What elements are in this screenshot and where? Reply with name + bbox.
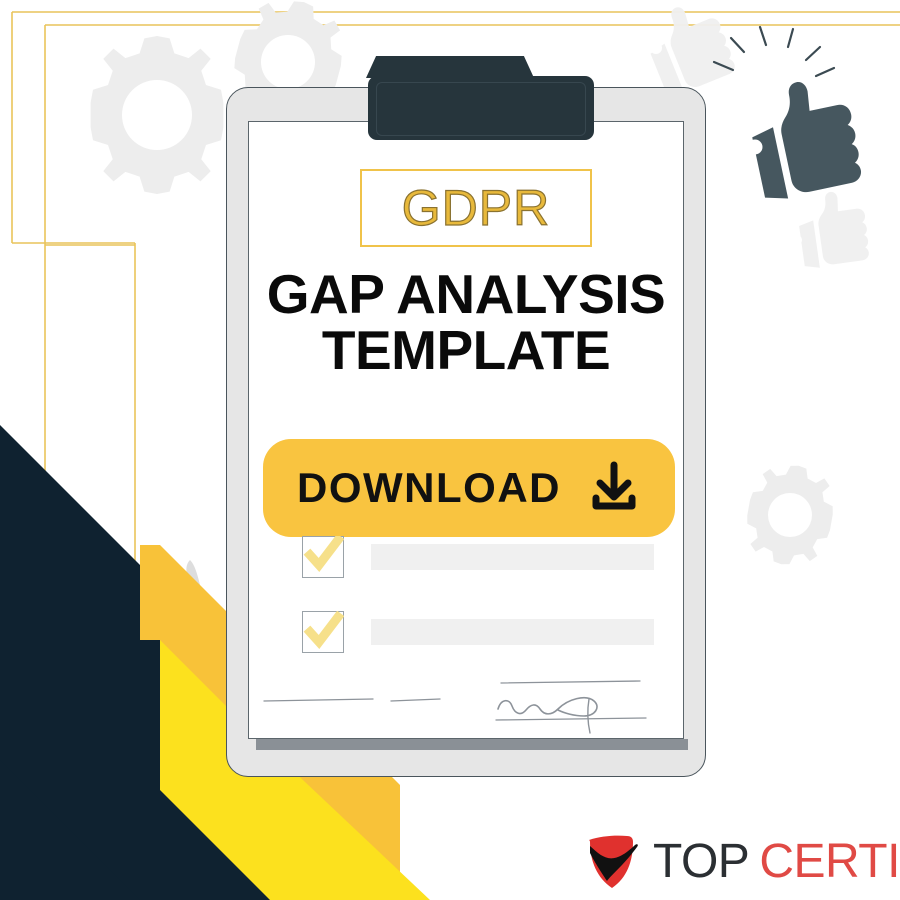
- signature-scribble: [498, 698, 597, 716]
- page-title: GAP ANALYSIS TEMPLATE: [248, 266, 684, 378]
- thumbs-up-icon: [638, 0, 739, 100]
- page-title-line2: TEMPLATE: [248, 322, 684, 378]
- brand-logo[interactable]: TOPCERTIFIER: [585, 833, 900, 891]
- gear-icon: [740, 458, 840, 571]
- thumbs-up-icon: [714, 27, 866, 203]
- signature-line: [501, 681, 640, 683]
- sparkle-lines: [714, 27, 834, 76]
- document-content: GDPR GAP ANALYSIS TEMPLATE DOWNLOAD: [248, 121, 684, 739]
- checklist-item[interactable]: [302, 611, 654, 653]
- signature-area: [248, 669, 684, 735]
- check-icon: [302, 611, 344, 653]
- brand-name-top: TOP: [653, 838, 749, 886]
- download-arrow-icon: [587, 461, 641, 515]
- clipboard-clip-tab: [366, 56, 534, 78]
- shield-check-icon: [585, 833, 643, 891]
- thumbs-up-icon: [795, 188, 871, 270]
- signature-line: [391, 699, 440, 701]
- checklist-text-placeholder: [371, 619, 654, 645]
- download-button[interactable]: DOWNLOAD: [263, 439, 675, 537]
- checkbox[interactable]: [302, 611, 344, 653]
- checklist-item[interactable]: [302, 536, 654, 578]
- download-button-label: DOWNLOAD: [297, 464, 561, 512]
- paper-bottom-shadow: [256, 739, 688, 750]
- gdpr-badge-label: GDPR: [402, 183, 550, 233]
- signature-line: [264, 699, 373, 701]
- checkbox[interactable]: [302, 536, 344, 578]
- signature-line: [496, 718, 646, 720]
- checklist-text-placeholder: [371, 544, 654, 570]
- page-title-line1: GAP ANALYSIS: [248, 266, 684, 322]
- poster-canvas: GDPR GAP ANALYSIS TEMPLATE DOWNLOAD: [0, 0, 900, 900]
- check-icon: [302, 536, 344, 578]
- gear-icon: [91, 36, 224, 194]
- gdpr-badge: GDPR: [360, 169, 592, 247]
- brand-name-certifier: CERTIFIER: [759, 838, 900, 886]
